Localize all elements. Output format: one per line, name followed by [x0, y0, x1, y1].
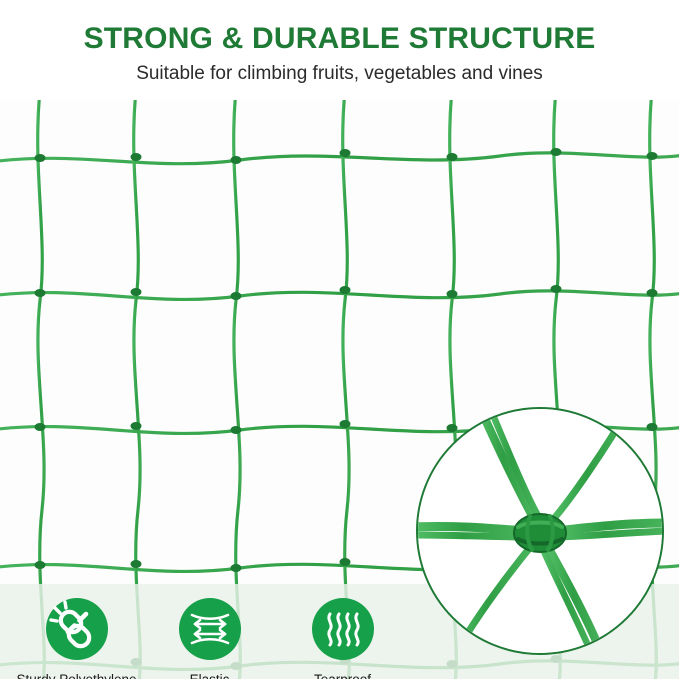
chain-link-icon: [46, 598, 108, 660]
feature-item-elastic: Elastic: [143, 584, 276, 679]
feature-label: Elastic: [143, 672, 276, 679]
feature-item-sturdy-polyethylene: Sturdy Polyethylene: [10, 584, 143, 679]
page-title: STRONG & DURABLE STRUCTURE: [0, 0, 679, 56]
knot-closeup-illustration: [418, 409, 662, 653]
net-photo: Sturdy Polyethylene: [0, 100, 679, 679]
product-infographic: Sturdy Polyethylene: [0, 0, 679, 679]
knot-closeup-magnifier: [416, 407, 664, 655]
feature-list: Sturdy Polyethylene: [10, 584, 410, 679]
stretch-arrows-icon: [179, 598, 241, 660]
feature-label: Sturdy Polyethylene: [10, 672, 143, 679]
header: STRONG & DURABLE STRUCTURE Suitable for …: [0, 0, 679, 100]
feature-label: Tearproof: [276, 672, 409, 679]
feature-item-tearproof: Tearproof: [276, 584, 409, 679]
page-subtitle: Suitable for climbing fruits, vegetables…: [0, 56, 679, 86]
wavy-strands-icon: [312, 598, 374, 660]
